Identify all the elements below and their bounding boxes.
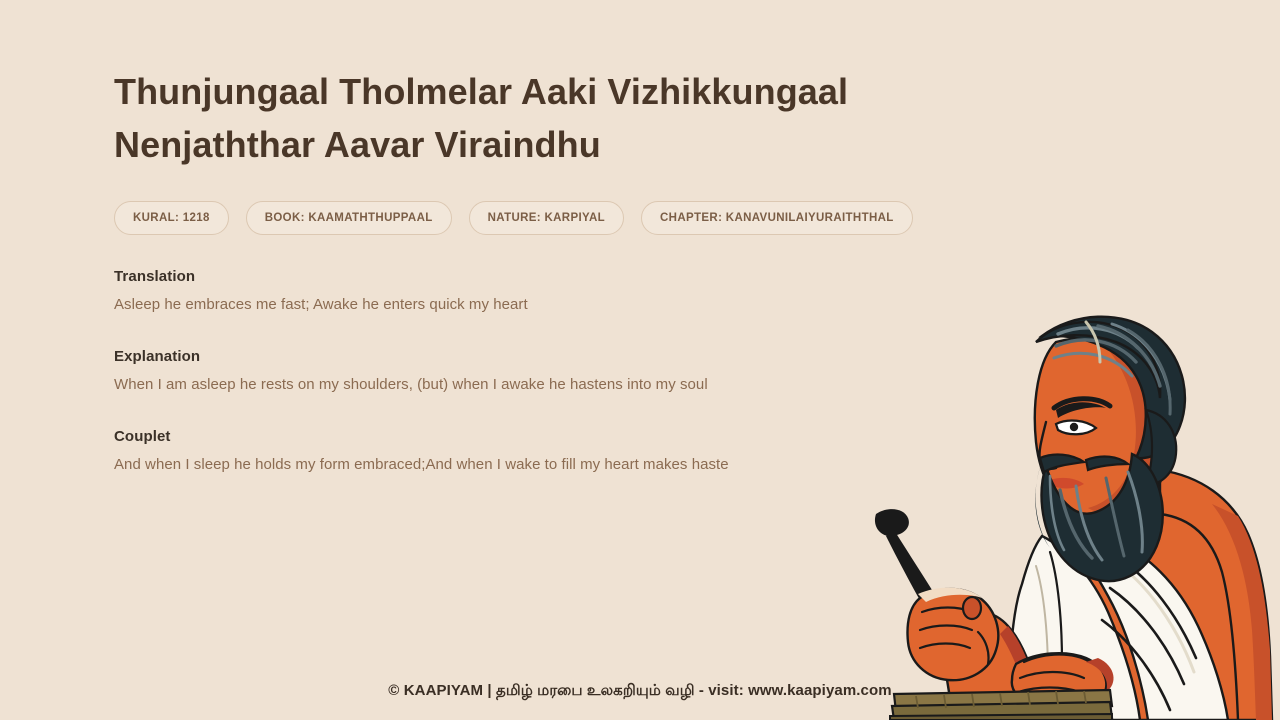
badge-book[interactable]: BOOK: KAAMATHTHUPPAAL [246, 201, 452, 235]
section-label-translation: Translation [114, 268, 944, 285]
badge-nature[interactable]: NATURE: KARPIYAL [469, 201, 624, 235]
section-label-explanation: Explanation [114, 348, 944, 365]
kural-title-line-1: Thunjungaal Tholmelar Aaki Vizhikkungaal [114, 71, 848, 112]
kural-card-page: Thunjungaal Tholmelar Aaki Vizhikkungaal… [0, 0, 1280, 720]
footer: © KAAPIYAM | தமிழ் மரபை உலகறியும் வழி - … [0, 682, 1280, 701]
section-label-couplet: Couplet [114, 428, 944, 445]
section-explanation: Explanation When I am asleep he rests on… [114, 348, 944, 395]
badge-kural[interactable]: KURAL: 1218 [114, 201, 229, 235]
metadata-badge-row: KURAL: 1218 BOOK: KAAMATHTHUPPAAL NATURE… [114, 201, 944, 235]
section-translation: Translation Asleep he embraces me fast; … [114, 268, 944, 315]
kural-title-line-2: Nenjaththar Aavar Viraindhu [114, 124, 601, 165]
section-text-translation: Asleep he embraces me fast; Awake he ent… [114, 294, 944, 315]
section-text-explanation: When I am asleep he rests on my shoulder… [114, 374, 944, 395]
page-title: Thunjungaal Tholmelar Aaki Vizhikkungaal… [114, 66, 944, 172]
kural-content: Thunjungaal Tholmelar Aaki Vizhikkungaal… [114, 66, 944, 475]
badge-chapter[interactable]: CHAPTER: KANAVUNILAIYURAITHTHAL [641, 201, 913, 235]
footer-credit-text[interactable]: © KAAPIYAM | தமிழ் மரபை உலகறியும் வழி - … [388, 682, 891, 701]
section-text-couplet: And when I sleep he holds my form embrac… [114, 454, 944, 475]
section-couplet: Couplet And when I sleep he holds my for… [114, 428, 944, 475]
